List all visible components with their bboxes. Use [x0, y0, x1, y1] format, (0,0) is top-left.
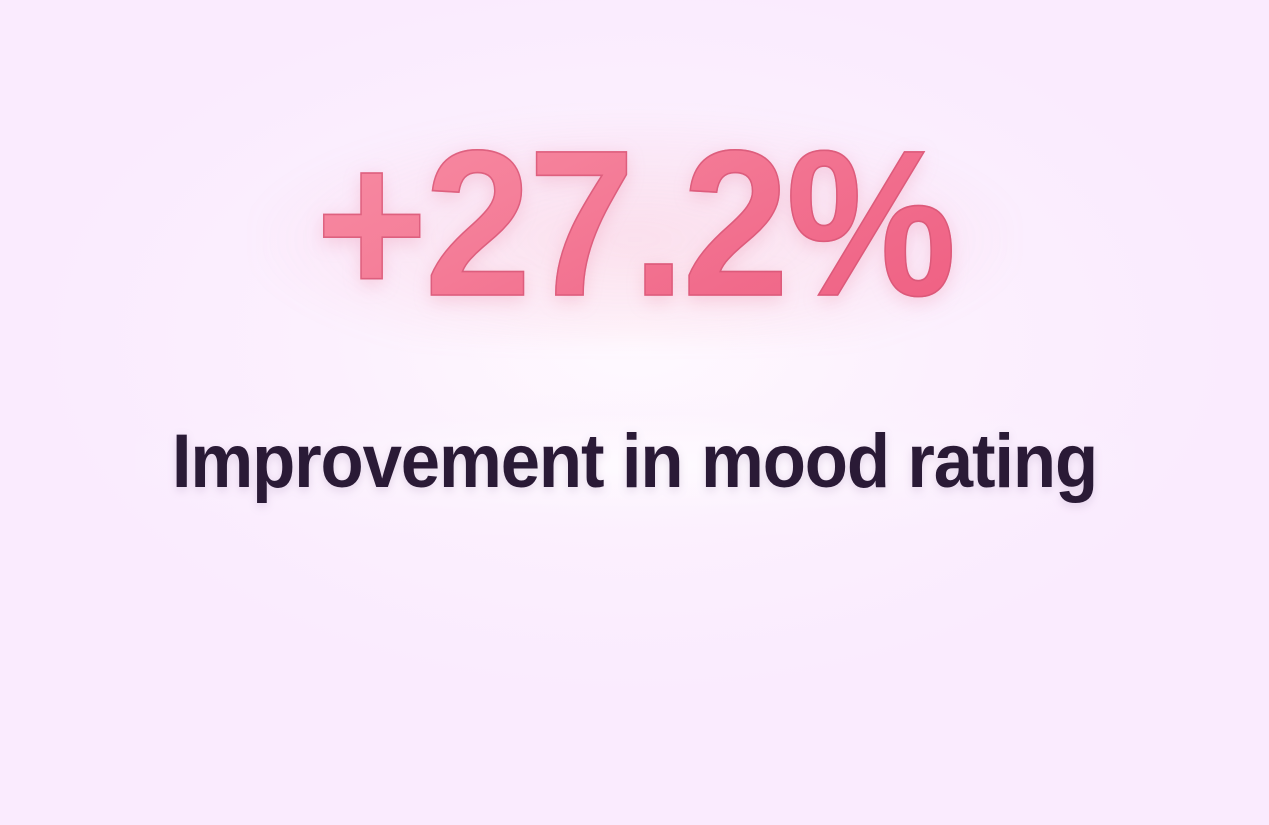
- stat-highlight-card: +27.2% Improvement in mood rating: [0, 0, 1269, 825]
- stat-value-container: +27.2%: [288, 118, 981, 330]
- stat-label: Improvement in mood rating: [172, 424, 1097, 500]
- stat-content-stack: +27.2% Improvement in mood rating: [0, 0, 1269, 825]
- stat-label-container: Improvement in mood rating: [137, 424, 1132, 500]
- stat-value: +27.2%: [316, 120, 954, 328]
